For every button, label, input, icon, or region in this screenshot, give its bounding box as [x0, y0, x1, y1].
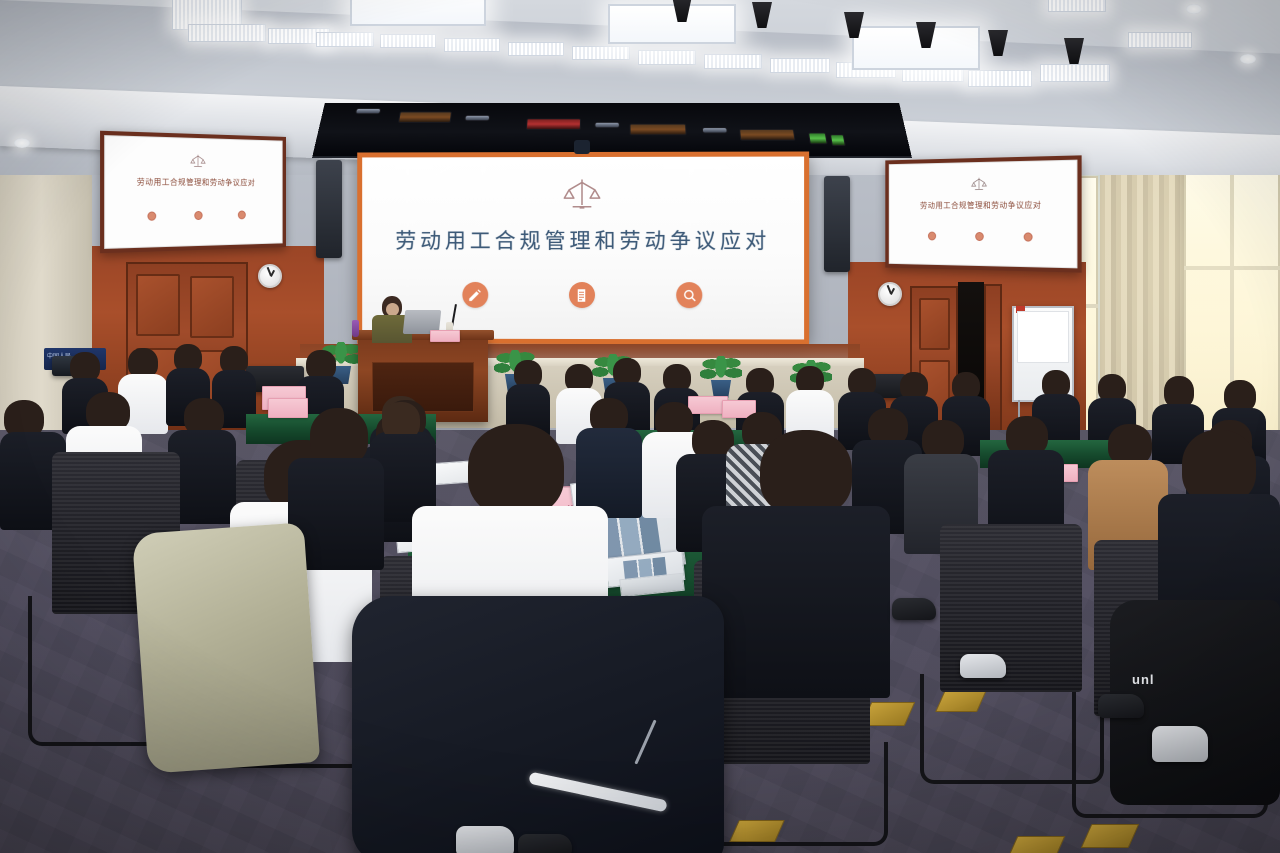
- ceiling-led-panel: [444, 38, 500, 52]
- attendee-head: [760, 430, 852, 516]
- sneaker: [1152, 726, 1208, 762]
- left-wall-clock-icon: [258, 264, 282, 288]
- ceiling-led-panel: [316, 32, 374, 47]
- stage-lamp: [808, 133, 828, 145]
- pa-speaker: [316, 160, 342, 258]
- right-screen-icon-row: [928, 232, 1032, 242]
- slide-icon-row: [422, 282, 744, 308]
- ceiling-led-panel: [572, 46, 630, 60]
- door-panel: [136, 274, 180, 336]
- left-screen-slide-title: 劳动用工合规管理和劳动争议应对: [105, 176, 282, 188]
- stage-lamp: [630, 124, 687, 136]
- attendee-head: [468, 424, 564, 516]
- sneaker: [456, 826, 514, 853]
- document-icon: [975, 232, 984, 241]
- dress-shoe: [1098, 694, 1144, 718]
- ceiling-led-panel: [188, 24, 266, 42]
- right-screen-slide-title: 劳动用工合规管理和劳动争议应对: [890, 199, 1077, 211]
- attendee-head: [1182, 430, 1256, 504]
- coat-zipper: [634, 719, 656, 764]
- stage-light-soffit: [312, 103, 912, 158]
- ceiling-led-panel: [968, 70, 1032, 87]
- ceiling-led-panel: [1128, 32, 1192, 48]
- attendee-torso: [702, 506, 890, 698]
- attendee-foreground: [702, 430, 890, 686]
- window-transom: [1184, 266, 1280, 270]
- ceiling-led-panel: [380, 34, 436, 48]
- recessed-downlight-icon: [1186, 4, 1202, 14]
- backpack-logo-text: unl: [1132, 672, 1155, 687]
- ceiling-skylight: [350, 0, 486, 26]
- left-side-screen: 劳动用工合规管理和劳动争议应对: [100, 131, 286, 254]
- stage-lamp: [739, 129, 795, 141]
- pencil-icon: [928, 232, 936, 241]
- scales-of-justice-icon: [890, 176, 1077, 197]
- door-panel: [190, 276, 234, 338]
- recessed-downlight-icon: [1240, 54, 1256, 64]
- stage-lamp: [355, 108, 381, 114]
- ceiling-led-panel: [770, 58, 830, 73]
- track-spotlight-icon: [752, 2, 772, 28]
- podium-nameplate: [430, 330, 460, 342]
- stage-lamp: [398, 112, 452, 123]
- flipchart-sheet: [1017, 311, 1069, 363]
- ceiling-led-panel: [508, 42, 564, 56]
- ceiling-skylight: [608, 4, 736, 44]
- olive-coat-on-chair: [132, 522, 320, 773]
- document-icon: [569, 282, 595, 308]
- stage-lamp: [830, 134, 846, 146]
- recessed-downlight-icon: [14, 138, 30, 148]
- stage-lamp: [594, 122, 619, 128]
- left-screen-icon-row: [147, 211, 246, 221]
- screen-ceiling-mount: [574, 140, 590, 154]
- seminar-room-photo: 劳动用工合规管理和劳动争议应对 劳动用工合规管理和劳动争议应对: [0, 0, 1280, 853]
- search-icon: [676, 282, 702, 308]
- document-icon: [194, 211, 202, 220]
- search-icon: [1024, 233, 1033, 242]
- scales-of-justice-icon: [362, 177, 804, 217]
- dress-shoe: [518, 834, 572, 853]
- right-wall-clock-icon: [878, 282, 902, 306]
- coat-reflective-stripe: [528, 772, 667, 813]
- pa-speaker: [824, 176, 850, 272]
- door-panel: [919, 298, 950, 350]
- right-side-screen: 劳动用工合规管理和劳动争议应对: [885, 155, 1081, 272]
- navy-coat-on-chair: [352, 596, 724, 853]
- floor-outlet-plate: [1007, 836, 1066, 853]
- ceiling-led-panel: [638, 50, 696, 65]
- pencil-icon: [462, 282, 488, 308]
- ceiling-led-panel: [1040, 64, 1110, 82]
- scales-of-justice-icon: [105, 152, 282, 174]
- slide-title: 劳动用工合规管理和劳动争议应对: [362, 225, 804, 255]
- stage-lamp: [464, 115, 490, 121]
- sneaker: [960, 654, 1006, 678]
- ceiling-skylight: [852, 26, 980, 70]
- dress-shoe: [892, 598, 936, 620]
- water-bottle: [352, 320, 359, 337]
- pencil-icon: [147, 212, 156, 221]
- stage-lamp: [702, 127, 728, 133]
- attendee: [506, 360, 550, 434]
- ceiling-led-panel: [1048, 0, 1106, 12]
- ceiling-led-panel: [704, 54, 762, 69]
- stage-lamp: [526, 118, 581, 129]
- search-icon: [238, 211, 246, 220]
